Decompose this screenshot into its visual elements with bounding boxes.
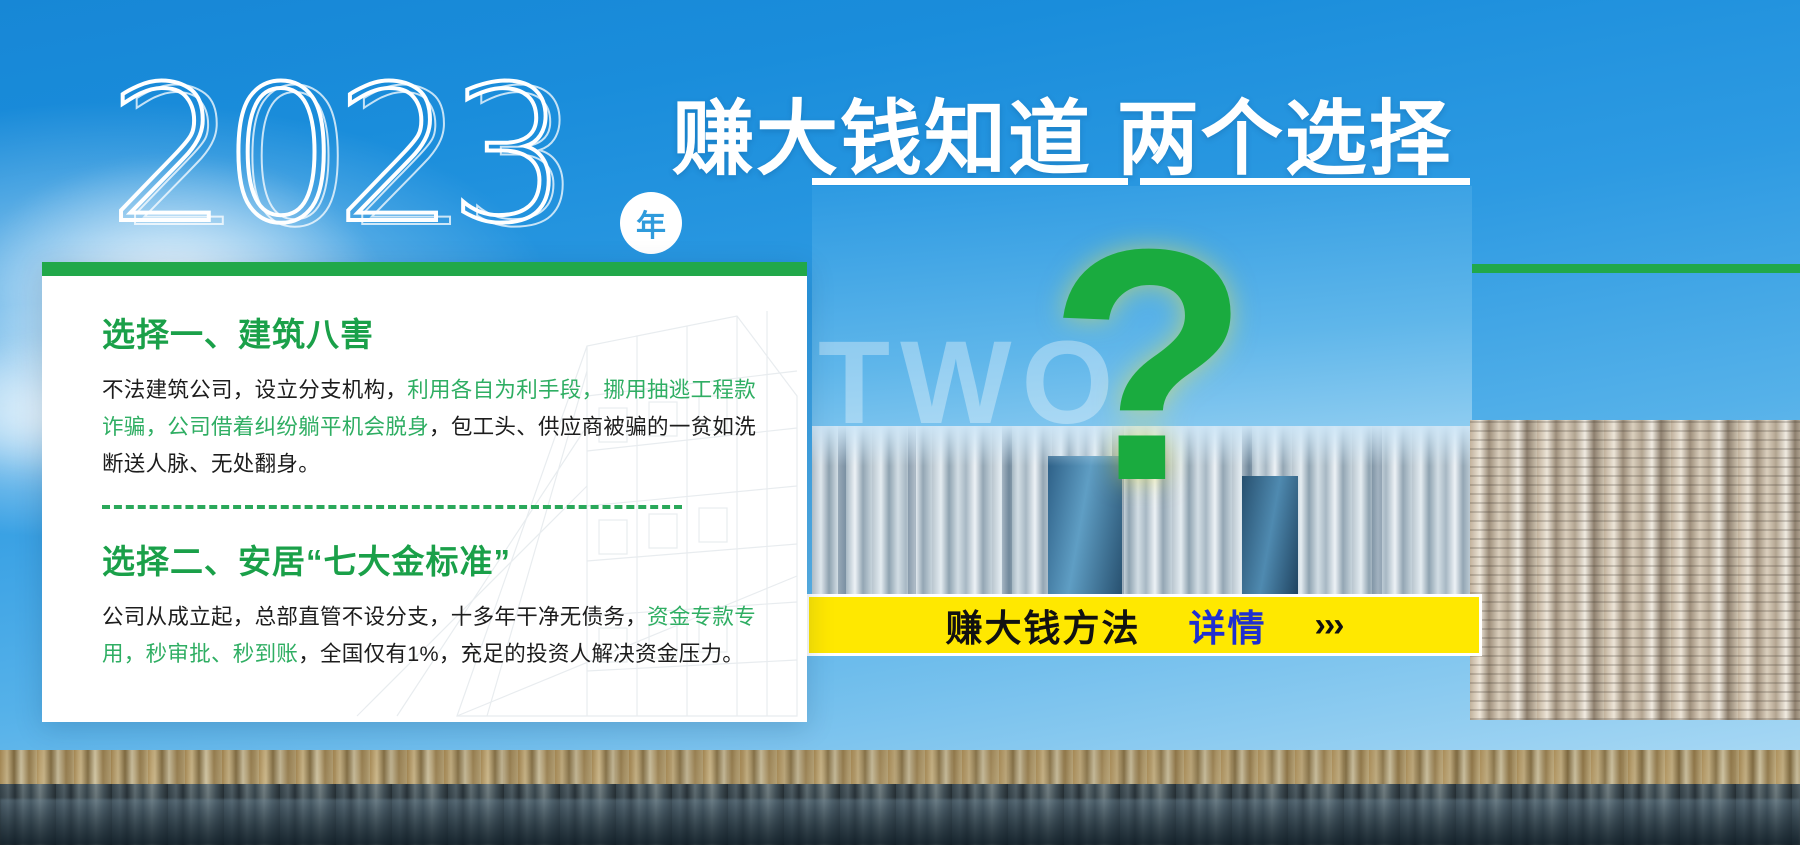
bottom-photo-strip (0, 750, 1800, 845)
cta-bar[interactable]: 赚大钱方法 详情 ››› (806, 594, 1482, 656)
content-card: 选择一、建筑八害 不法建筑公司，设立分支机构，利用各自为利手段，挪用抽逃工程款诈… (42, 262, 807, 722)
year-ghost-outline: 2023 (122, 66, 576, 254)
section-two-body: 公司从成立起，总部直管不设分支，十多年干净无债务，资金专款专用，秒审批、秒到账，… (102, 599, 765, 673)
year-unit-badge: 年 (620, 192, 682, 254)
s1-part-0: 不法建筑公司，设立分支机构， (102, 378, 407, 402)
choices-panel: TWO CHOOSE ? (812, 186, 1472, 596)
section-two-title: 选择二、安居“七大金标准” (102, 535, 765, 583)
card-content: 选择一、建筑八害 不法建筑公司，设立分支机构，利用各自为利手段，挪用抽逃工程款诈… (42, 262, 807, 673)
page-title: 赚大钱知道 两个选择 (672, 72, 1453, 191)
section-divider (102, 505, 682, 509)
s2-part-2: ，全国仅有1%，充足的投资人解决资金压力。 (298, 642, 744, 666)
residential-buildings-photo (1470, 420, 1800, 720)
cta-main-label: 赚大钱方法 (946, 598, 1141, 652)
section-one-title: 选择一、建筑八害 (102, 308, 765, 356)
cta-details-link[interactable]: 详情 (1189, 598, 1267, 652)
banner-stage: 2023 2023 年 赚大钱知道 两个选择 TWO CHOOSE ? 赚大钱方… (0, 0, 1800, 845)
question-mark-icon: ? (1048, 200, 1250, 530)
tower-glass-right (1242, 476, 1298, 596)
headline-rule-left (812, 178, 1128, 185)
chevron-right-icon: ››› (1315, 606, 1343, 645)
green-accent-bar-right (1470, 264, 1800, 273)
water-reflection (0, 799, 1800, 845)
section-two: 选择二、安居“七大金标准” 公司从成立起，总部直管不设分支，十多年干净无债务，资… (102, 535, 765, 673)
section-one-body: 不法建筑公司，设立分支机构，利用各自为利手段，挪用抽逃工程款诈骗，公司借着纠纷躺… (102, 372, 765, 483)
s2-part-0: 公司从成立起，总部直管不设分支，十多年干净无债务， (102, 605, 647, 629)
headline-rule-right (1140, 178, 1470, 185)
year-graphic: 2023 2023 (108, 62, 688, 262)
